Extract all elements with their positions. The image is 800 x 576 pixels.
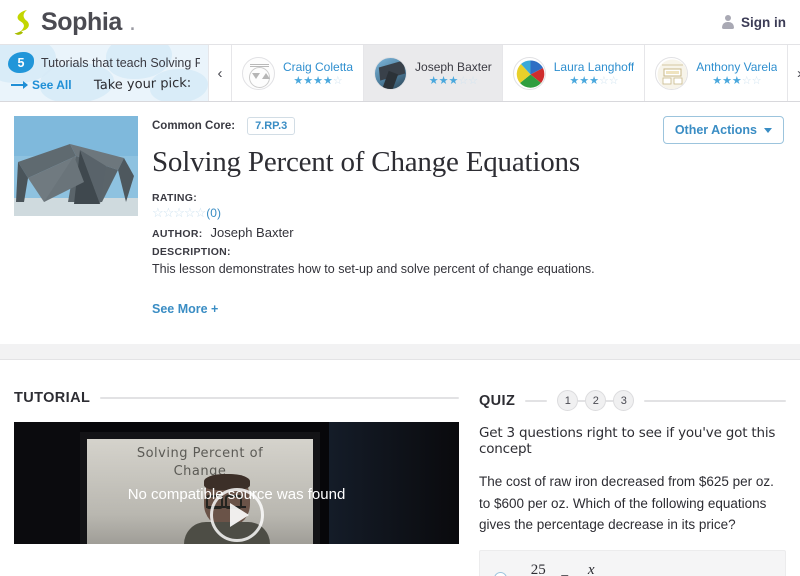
tutor-name: Joseph Baxter [415, 60, 492, 74]
lesson-thumbnail [14, 116, 138, 216]
tutorial-header: TUTORIAL [14, 390, 459, 406]
diagram-avatar-icon [655, 57, 688, 90]
quiz-rule-left [525, 400, 547, 402]
tutors-carousel: 5 Tutorials that teach Solving Perc See … [0, 44, 800, 102]
tutor-name: Anthony Varela [696, 60, 777, 74]
other-actions-button[interactable]: Other Actions [663, 116, 784, 144]
logo-period: . [129, 8, 136, 37]
quiz-option-1[interactable]: 25 600 = x 100 [479, 550, 786, 576]
quiz-step-connector [578, 400, 585, 402]
fraction-right: x 100 [576, 562, 607, 576]
tutor-cards-list: Craig Coletta ★★★★☆ Joseph Baxter ★★★☆☆ [232, 45, 787, 101]
quiz-question-text: The cost of raw iron decreased from $625… [479, 471, 786, 536]
top-header: Sophia . Sign in [0, 0, 800, 44]
photo-avatar-icon [374, 57, 407, 90]
rating-stars: ☆☆☆☆☆ [152, 205, 205, 220]
video-right-edge [329, 422, 459, 544]
tutor-rating-stars: ★★★★☆ [293, 76, 342, 87]
tutorial-column: TUTORIAL Solving Percent of Change No co… [14, 390, 459, 576]
video-player[interactable]: Solving Percent of Change No compatible … [14, 422, 459, 544]
sophia-leaf-icon [12, 7, 34, 37]
common-core-badge[interactable]: 7.RP.3 [247, 117, 295, 135]
see-all-link[interactable]: See All [11, 78, 72, 92]
quiz-step-connector [606, 400, 613, 402]
play-button-icon[interactable] [210, 488, 264, 542]
quiz-section-title: QUIZ [479, 393, 515, 409]
tutor-card-anthony-varela[interactable]: Anthony Varela ★★★☆☆ [645, 45, 787, 101]
carousel-intro: 5 Tutorials that teach Solving Perc See … [0, 45, 208, 101]
sign-in-label: Sign in [741, 15, 786, 30]
author-row: AUTHOR: Joseph Baxter [152, 225, 786, 240]
tutorial-rule [100, 397, 459, 399]
sketch-avatar-icon [242, 57, 275, 90]
description-text: This lesson demonstrates how to set-up a… [152, 261, 786, 278]
rating-label: RATING: [152, 192, 786, 204]
carousel-prev-button[interactable]: ‹ [208, 45, 232, 101]
tutor-name: Craig Coletta [283, 60, 353, 74]
sophia-logo[interactable]: Sophia . [12, 7, 136, 37]
tutorial-count-badge: 5 [8, 52, 34, 73]
common-core-label: Common Core: [152, 120, 235, 132]
tutor-card-joseph-baxter[interactable]: Joseph Baxter ★★★☆☆ [364, 45, 503, 101]
arrow-right-icon [11, 84, 27, 86]
tutor-rating-stars: ★★★☆☆ [569, 76, 618, 87]
quiz-header: QUIZ 1 2 3 [479, 390, 786, 411]
lesson-detail-section: Other Actions Common Core: [0, 102, 800, 344]
fraction-numerator: x [584, 562, 599, 576]
quiz-subtitle: Get 3 questions right to see if you've g… [479, 425, 786, 457]
carousel-next-button[interactable]: › [787, 45, 800, 101]
lower-content: TUTORIAL Solving Percent of Change No co… [0, 360, 800, 576]
quiz-column: QUIZ 1 2 3 Get 3 questions right to see … [479, 390, 786, 576]
section-divider [0, 344, 800, 360]
quiz-option-equation: 25 600 = x 100 [523, 562, 606, 576]
quiz-step-1[interactable]: 1 [557, 390, 578, 411]
user-icon [721, 15, 735, 30]
tutor-card-craig-coletta[interactable]: Craig Coletta ★★★★☆ [232, 45, 364, 101]
take-your-pick-text: Take your pick: [93, 76, 191, 94]
chevron-down-icon [764, 128, 772, 133]
tutor-rating-stars: ★★★☆☆ [429, 76, 478, 87]
rating-count: (0) [206, 206, 221, 220]
description-label: DESCRIPTION: [152, 246, 786, 258]
sculpture-image [14, 116, 138, 216]
page-title: Solving Percent of Change Equations [152, 146, 786, 179]
tutor-rating-stars: ★★★☆☆ [712, 76, 761, 87]
carousel-intro-title: Tutorials that teach Solving Perc [41, 56, 200, 70]
pie-chart-avatar-icon [513, 57, 546, 90]
equals-sign: = [561, 570, 569, 576]
author-name[interactable]: Joseph Baxter [211, 225, 294, 240]
tutor-name: Laura Langhoff [554, 60, 635, 74]
see-all-label: See All [32, 78, 72, 92]
radio-button-icon[interactable] [494, 572, 507, 576]
quiz-step-2[interactable]: 2 [585, 390, 606, 411]
video-left-edge [14, 422, 80, 544]
fraction-numerator: 25 [527, 562, 550, 576]
quiz-rule-right [644, 400, 786, 402]
logo-wordmark: Sophia [41, 8, 122, 37]
quiz-steps: 1 2 3 [557, 390, 634, 411]
quiz-step-3[interactable]: 3 [613, 390, 634, 411]
whiteboard-line-1: Solving Percent of [137, 446, 263, 461]
sign-in-button[interactable]: Sign in [721, 15, 786, 30]
tutorial-section-title: TUTORIAL [14, 390, 90, 406]
rating-block: RATING: ☆☆☆☆☆(0) [152, 192, 786, 222]
see-more-button[interactable]: See More + [152, 302, 218, 316]
tutor-card-laura-langhoff[interactable]: Laura Langhoff ★★★☆☆ [503, 45, 646, 101]
rating-value[interactable]: ☆☆☆☆☆(0) [152, 204, 786, 222]
author-label: AUTHOR: [152, 228, 203, 240]
other-actions-label: Other Actions [675, 123, 757, 137]
description-block: DESCRIPTION: This lesson demonstrates ho… [152, 246, 786, 278]
fraction-left: 25 600 [523, 562, 554, 576]
